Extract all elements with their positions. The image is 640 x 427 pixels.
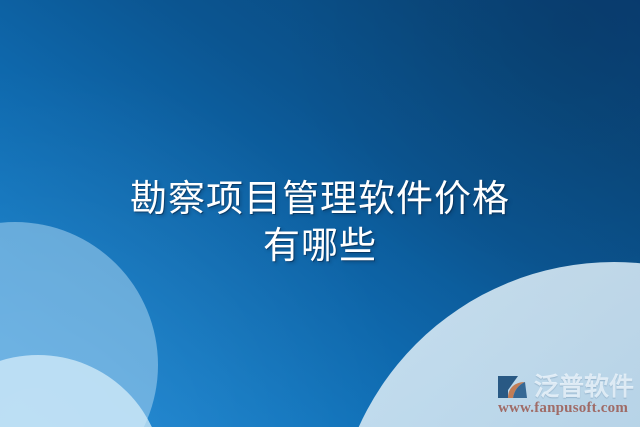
slide-canvas: 勘察项目管理软件价格 有哪些 泛普软件 www.fanpusoft.com xyxy=(0,0,640,427)
slide-title: 勘察项目管理软件价格 有哪些 xyxy=(0,176,640,270)
brand-watermark: 泛普软件 www.fanpusoft.com xyxy=(496,372,634,417)
brand-name-text: 泛普软件 xyxy=(534,374,634,400)
title-line-1: 勘察项目管理软件价格 xyxy=(0,176,640,223)
fanpu-logo-icon xyxy=(496,372,530,402)
brand-url-text: www.fanpusoft.com xyxy=(498,400,628,417)
title-line-2: 有哪些 xyxy=(0,223,640,270)
brand-watermark-row: 泛普软件 xyxy=(496,372,634,402)
